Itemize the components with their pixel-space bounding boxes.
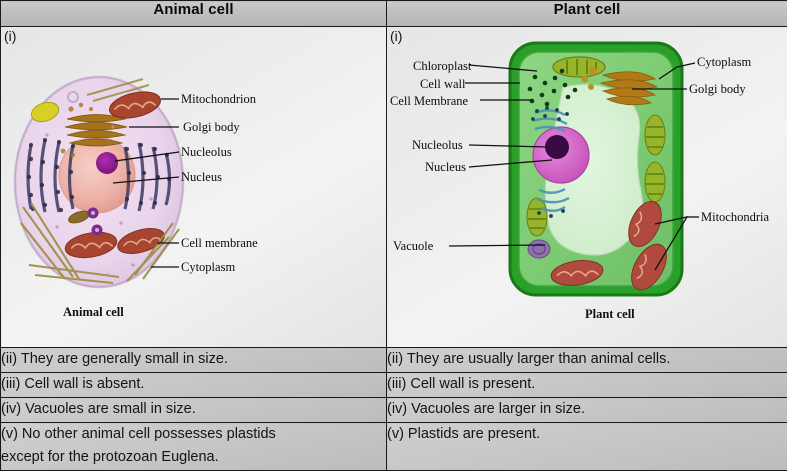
header-animal-cell: Animal cell bbox=[1, 1, 387, 27]
plant-label-mitochondria: Mitochondria bbox=[701, 210, 769, 225]
animal-point-v: (v) No other animal cell possesses plast… bbox=[1, 423, 387, 471]
plant-label-chloroplast: Chloroplast bbox=[413, 59, 471, 74]
diagram-row: (i) bbox=[1, 27, 787, 348]
plant-label-nucleolus: Nucleolus bbox=[412, 138, 463, 153]
animal-label-nucleolus: Nucleolus bbox=[181, 145, 232, 160]
animal-cell-diagram-cell: (i) bbox=[1, 27, 387, 348]
plant-point-v: (v) Plastids are present. bbox=[387, 423, 787, 471]
animal-label-cytoplasm: Cytoplasm bbox=[181, 260, 235, 275]
animal-label-cell-membrane: Cell membrane bbox=[181, 236, 258, 251]
table-row: (iv) Vacuoles are small in size. (iv) Va… bbox=[1, 398, 787, 423]
plant-point-ii: (ii) They are usually larger than animal… bbox=[387, 348, 787, 373]
animal-point-iv: (iv) Vacuoles are small in size. bbox=[1, 398, 387, 423]
animal-plant-comparison-table: Animal cell Plant cell (i) bbox=[0, 0, 787, 471]
comparison-table-wrapper: Animal cell Plant cell (i) bbox=[0, 0, 787, 465]
animal-point-ii: (ii) They are generally small in size. bbox=[1, 348, 387, 373]
table-row: (ii) They are generally small in size. (… bbox=[1, 348, 787, 373]
plant-label-cytoplasm: Cytoplasm bbox=[697, 55, 751, 70]
plant-point-iii: (iii) Cell wall is present. bbox=[387, 373, 787, 398]
plant-cell-caption: Plant cell bbox=[585, 307, 635, 322]
animal-label-golgi-body: Golgi body bbox=[183, 120, 240, 135]
animal-cell-illustration bbox=[1, 27, 387, 347]
plant-label-nucleus: Nucleus bbox=[425, 160, 466, 175]
plant-label-cell-membrane: Cell Membrane bbox=[390, 94, 468, 109]
animal-cell-caption: Animal cell bbox=[63, 305, 124, 320]
animal-label-nucleus: Nucleus bbox=[181, 170, 222, 185]
table-row: (iii) Cell wall is absent. (iii) Cell wa… bbox=[1, 373, 787, 398]
header-plant-cell: Plant cell bbox=[387, 1, 787, 27]
plant-label-vacuole: Vacuole bbox=[393, 239, 433, 254]
plant-label-cell-wall: Cell wall bbox=[420, 77, 465, 92]
table-header-row: Animal cell Plant cell bbox=[1, 1, 787, 27]
animal-label-mitochondrion: Mitochondrion bbox=[181, 92, 256, 107]
plant-label-golgi-body: Golgi body bbox=[689, 82, 746, 97]
plant-cell-diagram-cell: (i) bbox=[387, 27, 787, 348]
plant-point-iv: (iv) Vacuoles are larger in size. bbox=[387, 398, 787, 423]
table-row: (v) No other animal cell possesses plast… bbox=[1, 423, 787, 471]
animal-point-iii: (iii) Cell wall is absent. bbox=[1, 373, 387, 398]
plant-cell-illustration bbox=[387, 27, 787, 347]
